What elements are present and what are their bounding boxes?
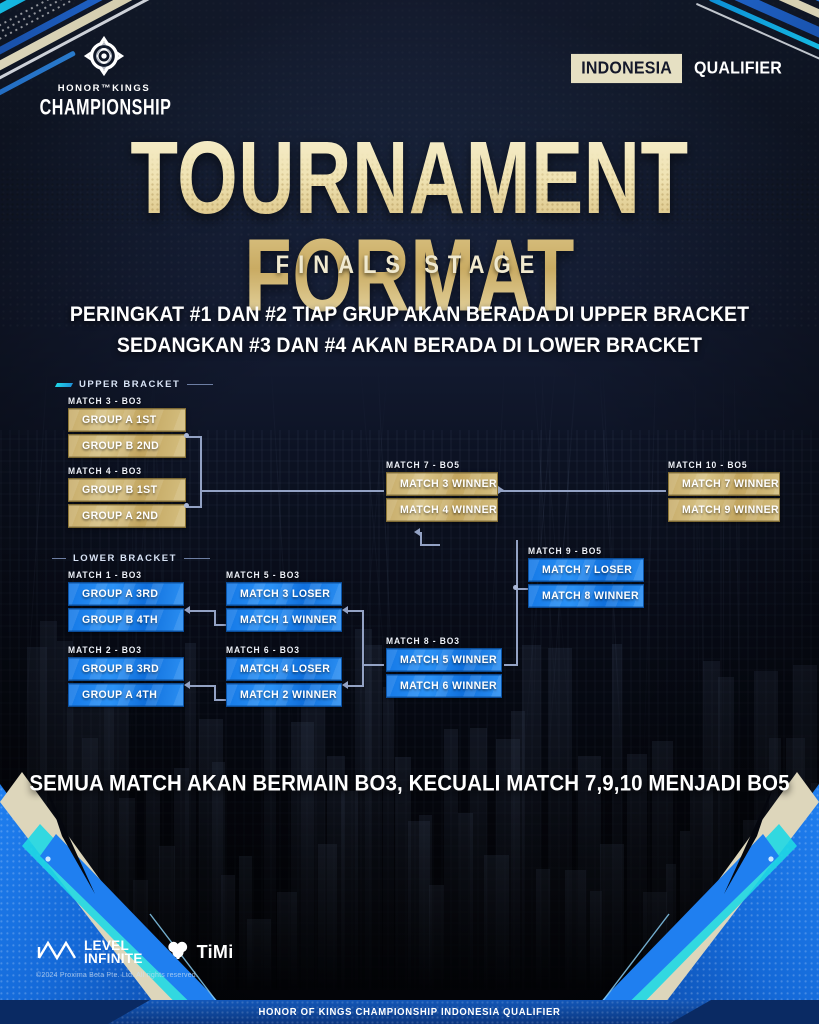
match-7-slot-2[interactable]: MATCH 4 WINNER	[386, 498, 498, 522]
match-4-slot-1[interactable]: GROUP B 1ST	[68, 478, 186, 502]
connector-nub	[184, 503, 189, 508]
connector-to-m8	[362, 664, 384, 666]
match-5[interactable]: MATCH 5 - BO3 MATCH 3 LOSER MATCH 1 WINN…	[226, 570, 342, 631]
level-infinite-icon	[36, 938, 78, 967]
match-8-title: MATCH 8 - BO3	[386, 635, 502, 646]
timi-cloud-icon	[165, 938, 191, 967]
connector-m7-to-m10	[498, 490, 666, 492]
match-9-slot-2[interactable]: MATCH 8 WINNER	[528, 584, 644, 608]
upper-bracket-label: UPPER BRACKET	[56, 379, 213, 390]
match-2-slot-1[interactable]: GROUP B 3RD	[68, 657, 184, 681]
match-6-slot-2[interactable]: MATCH 2 WINNER	[226, 683, 342, 707]
match-1-slot-1[interactable]: GROUP A 3RD	[68, 582, 184, 606]
format-note: SEMUA MATCH AKAN BERMAIN BO3, KECUALI MA…	[0, 771, 819, 797]
match-10[interactable]: MATCH 10 - BO5 MATCH 7 WINNER MATCH 9 WI…	[668, 460, 780, 521]
match-10-slot-2[interactable]: MATCH 9 WINNER	[668, 498, 780, 522]
match-5-title: MATCH 5 - BO3	[226, 569, 342, 580]
sponsor-timi: TiMi	[165, 938, 234, 967]
bottom-bar-cap-left	[0, 1000, 150, 1024]
sponsor-logos: LEVEL INFINITE TiMi	[36, 938, 234, 967]
connector-m7-loser	[420, 544, 440, 546]
lower-bracket-label-text: LOWER BRACKET	[73, 553, 177, 564]
match-1-title: MATCH 1 - BO3	[68, 569, 184, 580]
bottom-bar-cap-right	[669, 1000, 819, 1024]
match-3-title: MATCH 3 - BO3	[68, 395, 186, 406]
lower-bracket-label: LOWER BRACKET	[52, 553, 210, 564]
match-7[interactable]: MATCH 7 - BO5 MATCH 3 WINNER MATCH 4 WIN…	[386, 460, 498, 521]
connector-nub	[184, 433, 189, 438]
copyright-text: ©2024 Proxima Beta Pte. Ltd. All rights …	[36, 972, 198, 979]
poster-canvas: HONOR™KINGS CHAMPIONSHIP INDONESIA QUALI…	[0, 0, 819, 1024]
bracket-diagram: UPPER BRACKET MATCH 3 - BO3 GROUP A 1ST …	[0, 0, 819, 1024]
match-4[interactable]: MATCH 4 - BO3 GROUP B 1ST GROUP A 2ND	[68, 466, 186, 527]
match-10-title: MATCH 10 - BO5	[668, 459, 780, 470]
accent-tick-icon	[55, 383, 73, 387]
match-2-title: MATCH 2 - BO3	[68, 644, 184, 655]
match-8[interactable]: MATCH 8 - BO3 MATCH 5 WINNER MATCH 6 WIN…	[386, 636, 502, 697]
match-9-title: MATCH 9 - BO5	[528, 545, 644, 556]
connector-nub	[513, 585, 518, 590]
match-5-slot-1[interactable]: MATCH 3 LOSER	[226, 582, 342, 606]
connector-arrow	[184, 606, 190, 614]
connector-m1-to-m5	[190, 610, 216, 612]
match-2[interactable]: MATCH 2 - BO3 GROUP B 3RD GROUP A 4TH	[68, 645, 184, 706]
match-6[interactable]: MATCH 6 - BO3 MATCH 4 LOSER MATCH 2 WINN…	[226, 645, 342, 706]
match-7-title: MATCH 7 - BO5	[386, 459, 498, 470]
match-4-title: MATCH 4 - BO3	[68, 465, 186, 476]
connector-arrow	[498, 486, 504, 494]
match-2-slot-2[interactable]: GROUP A 4TH	[68, 683, 184, 707]
connector-upper-join	[200, 436, 202, 508]
match-8-slot-2[interactable]: MATCH 6 WINNER	[386, 674, 502, 698]
match-3-slot-1[interactable]: GROUP A 1ST	[68, 408, 186, 432]
connector-to-m7	[200, 490, 384, 492]
connector-arrow	[342, 681, 348, 689]
connector-arrow	[342, 606, 348, 614]
match-6-title: MATCH 6 - BO3	[226, 644, 342, 655]
connector-m2-to-m6	[190, 685, 216, 687]
upper-bracket-label-text: UPPER BRACKET	[79, 379, 180, 390]
match-3[interactable]: MATCH 3 - BO3 GROUP A 1ST GROUP B 2ND	[68, 396, 186, 457]
sponsor-level-infinite: LEVEL INFINITE	[36, 938, 143, 967]
bottom-bar-text: HONOR OF KINGS CHAMPIONSHIP INDONESIA QU…	[258, 1006, 560, 1018]
connector-arrow	[184, 681, 190, 689]
match-9[interactable]: MATCH 9 - BO5 MATCH 7 LOSER MATCH 8 WINN…	[528, 546, 644, 607]
match-9-slot-1[interactable]: MATCH 7 LOSER	[528, 558, 644, 582]
match-5-slot-2[interactable]: MATCH 1 WINNER	[226, 608, 342, 632]
match-1-slot-2[interactable]: GROUP B 4TH	[68, 608, 184, 632]
match-1[interactable]: MATCH 1 - BO3 GROUP A 3RD GROUP B 4TH	[68, 570, 184, 631]
sponsor1-line2: INFINITE	[84, 953, 143, 966]
match-4-slot-2[interactable]: GROUP A 2ND	[68, 504, 186, 528]
connector-arrow	[414, 528, 420, 536]
match-7-slot-1[interactable]: MATCH 3 WINNER	[386, 472, 498, 496]
timi-text: TiMi	[197, 942, 234, 963]
label-dash	[52, 558, 66, 559]
connector-m8-riser	[516, 540, 518, 666]
match-8-slot-1[interactable]: MATCH 5 WINNER	[386, 648, 502, 672]
bottom-bar: HONOR OF KINGS CHAMPIONSHIP INDONESIA QU…	[0, 1000, 819, 1024]
match-10-slot-1[interactable]: MATCH 7 WINNER	[668, 472, 780, 496]
label-dash	[187, 384, 213, 385]
match-3-slot-2[interactable]: GROUP B 2ND	[68, 434, 186, 458]
match-6-slot-1[interactable]: MATCH 4 LOSER	[226, 657, 342, 681]
connector-lower-join	[362, 610, 364, 687]
label-dash	[184, 558, 210, 559]
level-infinite-text: LEVEL INFINITE	[84, 940, 143, 966]
